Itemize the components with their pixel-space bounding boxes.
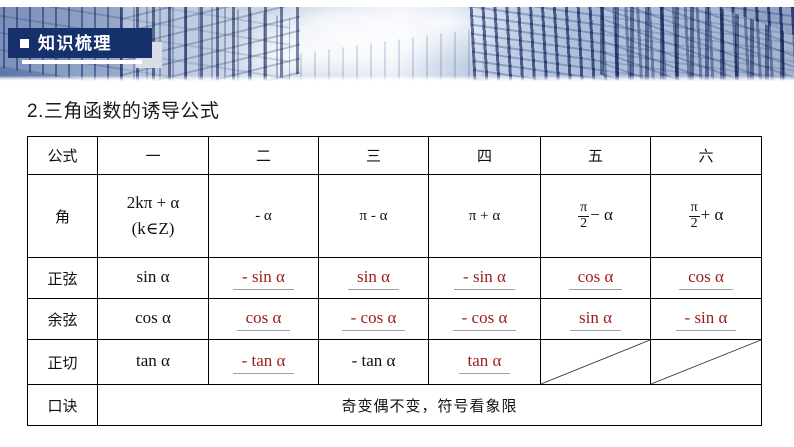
table-row-cosine: 余弦 cos α cos α - cos α - cos α sin α - s…: [28, 299, 762, 340]
answer-sine-4: - sin α: [454, 267, 515, 290]
angle-formula-1-line2: (k∈Z): [98, 216, 208, 242]
cell-tangent-2: - tan α: [209, 340, 319, 385]
answer-sine-3: sin α: [348, 267, 399, 290]
fraction-denominator: 2: [578, 216, 589, 232]
cell-cosine-1: cos α: [98, 299, 209, 340]
fraction-pi-over-2-minus: π 2: [578, 201, 589, 231]
answer-cosine-5: sin α: [570, 308, 621, 331]
answer-sine-2: - sin α: [233, 267, 294, 290]
cell-cosine-2: cos α: [209, 299, 319, 340]
fraction-pi-over-2-plus: π 2: [689, 201, 700, 231]
cell-tangent-4: tan α: [429, 340, 541, 385]
row-label-tangent: 正切: [28, 340, 98, 385]
cell-cosine-4: - cos α: [429, 299, 541, 340]
answer-tangent-2: - tan α: [233, 351, 295, 374]
cell-sine-4: - sin α: [429, 258, 541, 299]
answer-cosine-6: - sin α: [676, 308, 737, 331]
diagonal-strike-icon: [541, 340, 650, 384]
formula-table-wrapper: 公式 一 二 三 四 五 六 角 2kπ + α (k∈Z) - α π: [27, 136, 761, 426]
cell-cosine-3: - cos α: [319, 299, 429, 340]
angle-formula-6-tail: + α: [701, 205, 724, 224]
cell-angle-2: - α: [209, 175, 319, 258]
answer-tangent-1: tan α: [127, 351, 179, 373]
table-row-tangent: 正切 tan α - tan α - tan α tan α: [28, 340, 762, 385]
answer-sine-6: cos α: [679, 267, 733, 290]
header-cell-3: 三: [319, 137, 429, 175]
cell-tangent-3: - tan α: [319, 340, 429, 385]
cell-angle-5: π 2 − α: [541, 175, 651, 258]
angle-formula-5-tail: − α: [590, 205, 613, 224]
header-cell-4: 四: [429, 137, 541, 175]
fraction-numerator: π: [689, 201, 700, 216]
header-cell-1: 一: [98, 137, 209, 175]
induction-formula-table: 公式 一 二 三 四 五 六 角 2kπ + α (k∈Z) - α π: [27, 136, 762, 426]
header-bottom-edge: [0, 76, 794, 82]
answer-cosine-1: cos α: [126, 308, 180, 330]
slide-page: 知识梳理 2.三角函数的诱导公式 公式 一 二 三 四 五 六: [0, 0, 794, 447]
cell-sine-2: - sin α: [209, 258, 319, 299]
answer-sine-1: sin α: [128, 267, 179, 289]
header-cell-6: 六: [651, 137, 762, 175]
banner-label: 知识梳理: [38, 35, 112, 52]
header-cell-formula: 公式: [28, 137, 98, 175]
building-mid-icon: [300, 27, 490, 82]
angle-formula-1-line1: 2kπ + α: [98, 190, 208, 216]
answer-sine-5: cos α: [569, 267, 623, 290]
cell-sine-5: cos α: [541, 258, 651, 299]
header-cell-2: 二: [209, 137, 319, 175]
banner-underline: [22, 60, 142, 64]
table-header-row: 公式 一 二 三 四 五 六: [28, 137, 762, 175]
header-top-edge: [0, 0, 794, 7]
row-label-mnemonic: 口诀: [28, 385, 98, 426]
table-row-mnemonic: 口诀 奇变偶不变，符号看象限: [28, 385, 762, 426]
cell-angle-1: 2kπ + α (k∈Z): [98, 175, 209, 258]
table-row-sine: 正弦 sin α - sin α sin α - sin α cos α cos…: [28, 258, 762, 299]
answer-cosine-4: - cos α: [453, 308, 517, 331]
cell-angle-6: π 2 + α: [651, 175, 762, 258]
fraction-numerator: π: [578, 201, 589, 216]
cell-tangent-6-empty: [651, 340, 762, 385]
header-cell-5: 五: [541, 137, 651, 175]
cell-cosine-5: sin α: [541, 299, 651, 340]
row-label-sine: 正弦: [28, 258, 98, 299]
cell-tangent-1: tan α: [98, 340, 209, 385]
answer-tangent-3: - tan α: [343, 351, 405, 373]
cell-cosine-6: - sin α: [651, 299, 762, 340]
answer-tangent-4: tan α: [459, 351, 511, 374]
page-title: 2.三角函数的诱导公式: [27, 96, 219, 123]
cell-sine-3: sin α: [319, 258, 429, 299]
cell-tangent-5-empty: [541, 340, 651, 385]
cell-sine-1: sin α: [98, 258, 209, 299]
row-label-cosine: 余弦: [28, 299, 98, 340]
cell-sine-6: cos α: [651, 258, 762, 299]
row-label-angle: 角: [28, 175, 98, 258]
diagonal-strike-icon: [651, 340, 761, 384]
answer-cosine-2: cos α: [237, 308, 291, 331]
cell-angle-4: π + α: [429, 175, 541, 258]
fraction-denominator: 2: [689, 216, 700, 232]
square-bullet-icon: [20, 39, 29, 48]
table-row-angle: 角 2kπ + α (k∈Z) - α π - α π + α π 2 − α: [28, 175, 762, 258]
mnemonic-text: 奇变偶不变，符号看象限: [98, 385, 762, 426]
section-banner: 知识梳理: [8, 28, 152, 58]
cell-angle-3: π - α: [319, 175, 429, 258]
answer-cosine-3: - cos α: [342, 308, 406, 331]
